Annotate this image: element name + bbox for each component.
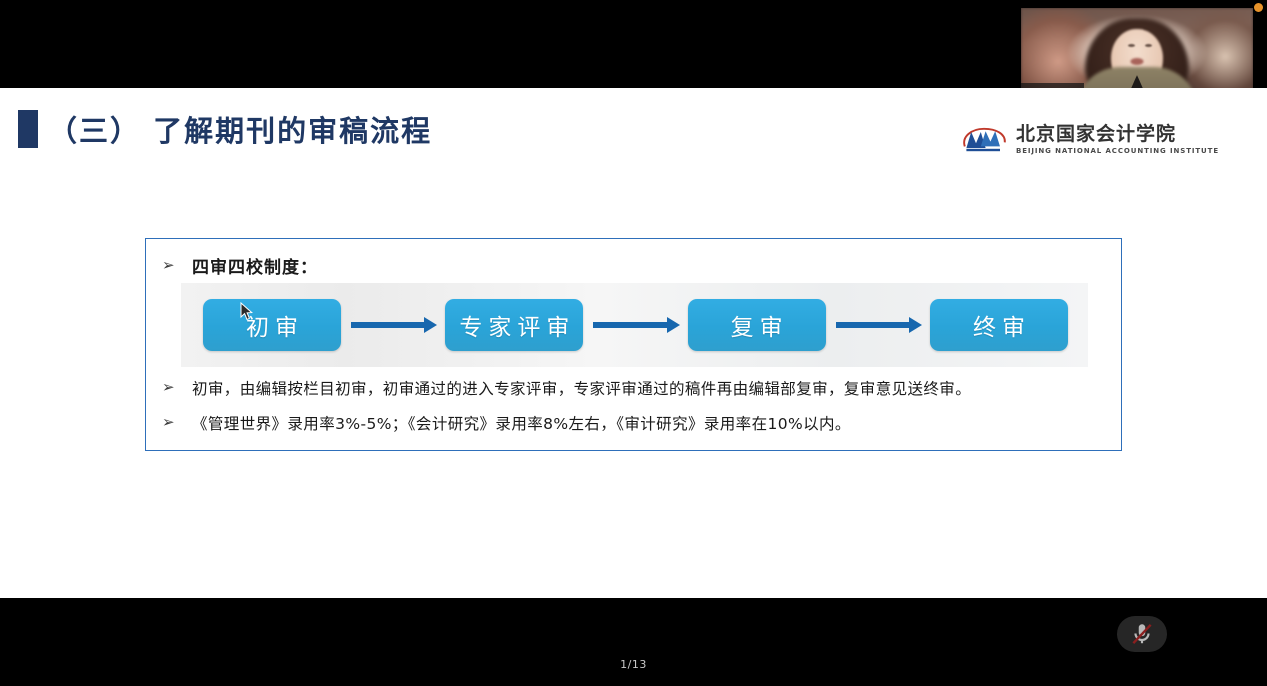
review-flow-steps: 初审 专家评审 复审 [203,283,1068,367]
flow-step-2[interactable]: 专家评审 [445,299,583,351]
slide-canvas: （三） 了解期刊的审稿流程 北京国家会计学院 BEIJING NATIONAL … [0,88,1267,598]
screen-root: 李英 （三） 了解期刊的审稿流程 北京国家会计学院 BEIJING NATION… [0,0,1267,686]
flow-arrow-2-head [667,317,680,333]
flow-step-3-label: 复审 [725,308,789,342]
institute-logo: 北京国家会计学院 BEIJING NATIONAL ACCOUNTING INS… [960,124,1219,156]
card-heading: ➢ 四审四校制度： [162,253,318,278]
page-title: （三） 了解期刊的审稿流程 [48,108,432,150]
bullet-text-2: 《管理世界》录用率3%-5%；《会计研究》录用率8%左右，《审计研究》录用率在1… [192,415,851,434]
flow-arrow-2 [583,318,687,332]
mute-toggle-button[interactable] [1117,616,1167,652]
institute-name-cn: 北京国家会计学院 [1016,125,1219,145]
presenter-eye-left [1128,44,1135,47]
bottom-toolbar: 1/13 [0,598,1267,686]
bullet-row-2: ➢ 《管理世界》录用率3%-5%；《会计研究》录用率8%左右，《审计研究》录用率… [162,415,851,434]
flow-step-2-label: 专家评审 [453,308,575,342]
bullet-marker-icon: ➢ [162,258,180,273]
presenter-eye-right [1145,44,1152,47]
content-card: ➢ 四审四校制度： 初审 专家评审 [145,238,1122,451]
bullet-marker-icon: ➢ [162,415,180,430]
presenter-mouth [1131,58,1144,65]
flow-arrow-1-head [424,317,437,333]
page-indicator: 1/13 [0,658,1267,671]
flow-step-4[interactable]: 终审 [930,299,1068,351]
flow-arrow-3 [826,318,930,332]
flow-arrow-1 [341,318,445,332]
bullet-marker-icon: ➢ [162,380,180,395]
flow-step-1-label: 初审 [240,308,304,342]
institute-logo-icon [960,124,1008,156]
card-heading-text: 四审四校制度： [192,253,318,278]
recording-status-dot [1254,3,1263,12]
microphone-muted-icon [1129,621,1155,647]
institute-logo-text: 北京国家会计学院 BEIJING NATIONAL ACCOUNTING INS… [1016,125,1219,155]
flow-arrow-3-head [909,317,922,333]
flow-step-3[interactable]: 复审 [688,299,826,351]
bullet-text-1: 初审，由编辑按栏目初审，初审通过的进入专家评审，专家评审通过的稿件再由编辑部复审… [192,380,971,399]
institute-name-en: BEIJING NATIONAL ACCOUNTING INSTITUTE [1016,147,1219,155]
flow-arrow-1-shaft [351,322,427,328]
flow-arrow-3-shaft [836,322,912,328]
bullet-row-1: ➢ 初审，由编辑按栏目初审，初审通过的进入专家评审，专家评审通过的稿件再由编辑部… [162,380,971,399]
flow-arrow-2-shaft [593,322,669,328]
slide-title-row: （三） 了解期刊的审稿流程 北京国家会计学院 BEIJING NATIONAL … [0,104,1267,158]
title-accent-bar [18,110,38,148]
review-flow-diagram: 初审 专家评审 复审 [181,283,1088,367]
flow-step-4-label: 终审 [967,308,1031,342]
flow-step-1[interactable]: 初审 [203,299,341,351]
